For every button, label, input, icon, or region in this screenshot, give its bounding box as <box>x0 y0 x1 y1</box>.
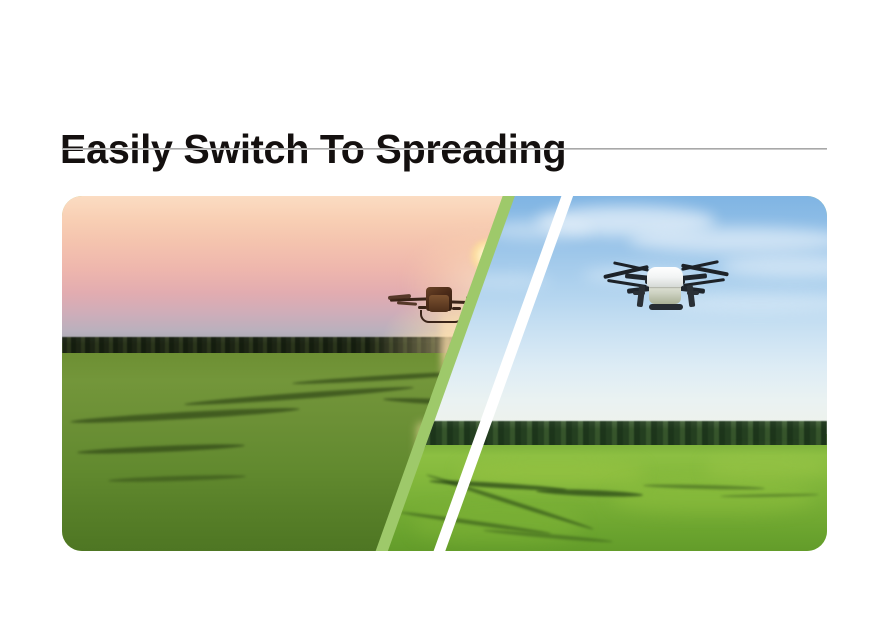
cloud-icon <box>720 255 827 277</box>
drone-propeller <box>397 301 417 305</box>
field-track-line <box>184 384 413 407</box>
cloud-icon <box>628 227 827 253</box>
field-track-line <box>77 442 245 455</box>
drone-leg <box>637 285 646 308</box>
field-track-line <box>70 406 300 426</box>
title-divider <box>62 148 827 150</box>
split-image-panel <box>62 196 827 551</box>
drone-landing-skid <box>649 304 683 310</box>
spreading-drone-icon <box>601 255 729 317</box>
drone-landing-gear <box>420 310 464 323</box>
drone-body <box>647 267 683 287</box>
field-track-line <box>108 474 246 483</box>
cloud-icon <box>483 220 593 240</box>
field-patch <box>705 456 827 479</box>
